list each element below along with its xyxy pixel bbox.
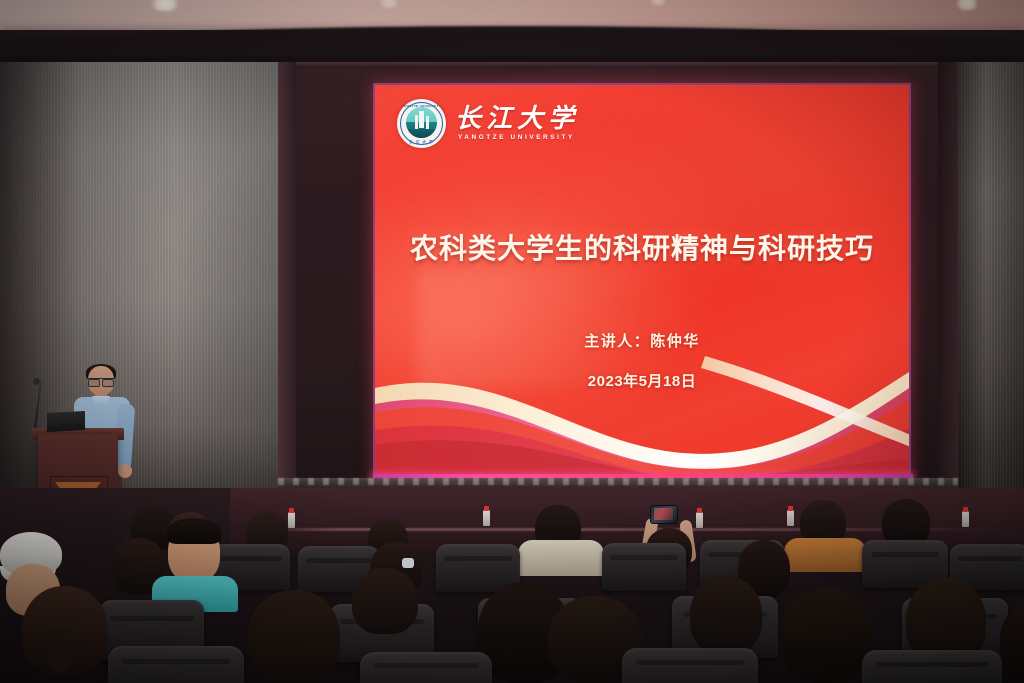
presenter-hand (118, 464, 132, 478)
slide-wave-decoration (375, 348, 909, 483)
phone-screen (654, 508, 673, 520)
auditorium-seat (622, 648, 758, 683)
proscenium-right-edge (938, 62, 958, 492)
auditorium-photo: YANGTZE UNIVERSITY 长 江 大 学 长江大学 YANGTZE … (0, 0, 1024, 683)
stage-lip-texture (278, 478, 958, 485)
audience-shoulders (784, 538, 866, 572)
water-bottle (787, 510, 794, 526)
water-bottle (288, 512, 295, 528)
proscenium-top-trim (278, 62, 958, 68)
audience-head (248, 590, 340, 683)
audience-shoulders (518, 540, 604, 576)
audience-head (780, 588, 872, 683)
audience-head (352, 568, 418, 634)
hair-bun (48, 648, 72, 672)
university-seal-icon: YANGTZE UNIVERSITY 长 江 大 学 (397, 99, 446, 148)
led-screen: YANGTZE UNIVERSITY 长 江 大 学 长江大学 YANGTZE … (375, 85, 909, 483)
seal-text-bottom: 长 江 大 学 (397, 139, 446, 144)
wave-svg (375, 348, 909, 483)
auditorium-seat (108, 646, 244, 683)
right-wall-shadow (955, 62, 1024, 492)
slide-title: 农科类大学生的科研精神与科研技巧 (375, 227, 909, 267)
glasses-icon (88, 378, 114, 385)
screen-frame: YANGTZE UNIVERSITY 长 江 大 学 长江大学 YANGTZE … (375, 85, 909, 483)
university-wordmark: 长江大学 YANGTZE UNIVERSITY (455, 106, 579, 141)
laptop (47, 411, 85, 432)
presentation-slide: YANGTZE UNIVERSITY 长 江 大 学 长江大学 YANGTZE … (375, 85, 909, 483)
auditorium-seat (862, 650, 1002, 683)
auditorium-seat (360, 652, 492, 683)
seal-river-icon (406, 129, 437, 138)
slide-sheen-right (546, 85, 909, 322)
seal-inner-emblem (406, 107, 437, 138)
proscenium-left-edge (278, 62, 296, 492)
wordmark-chinese: 长江大学 (455, 106, 579, 132)
wordmark-english: YANGTZE UNIVERSITY (458, 134, 579, 141)
university-logo: YANGTZE UNIVERSITY 长 江 大 学 长江大学 YANGTZE … (397, 99, 579, 148)
water-bottle (962, 511, 969, 527)
seal-tower-icon (419, 111, 424, 128)
auditorium-seat (602, 543, 686, 591)
smartphone (650, 505, 678, 524)
water-bottle (696, 512, 703, 528)
audience-head (690, 576, 762, 654)
water-bottle (483, 510, 490, 526)
audience-head (167, 518, 221, 544)
hair-clip (402, 558, 414, 568)
